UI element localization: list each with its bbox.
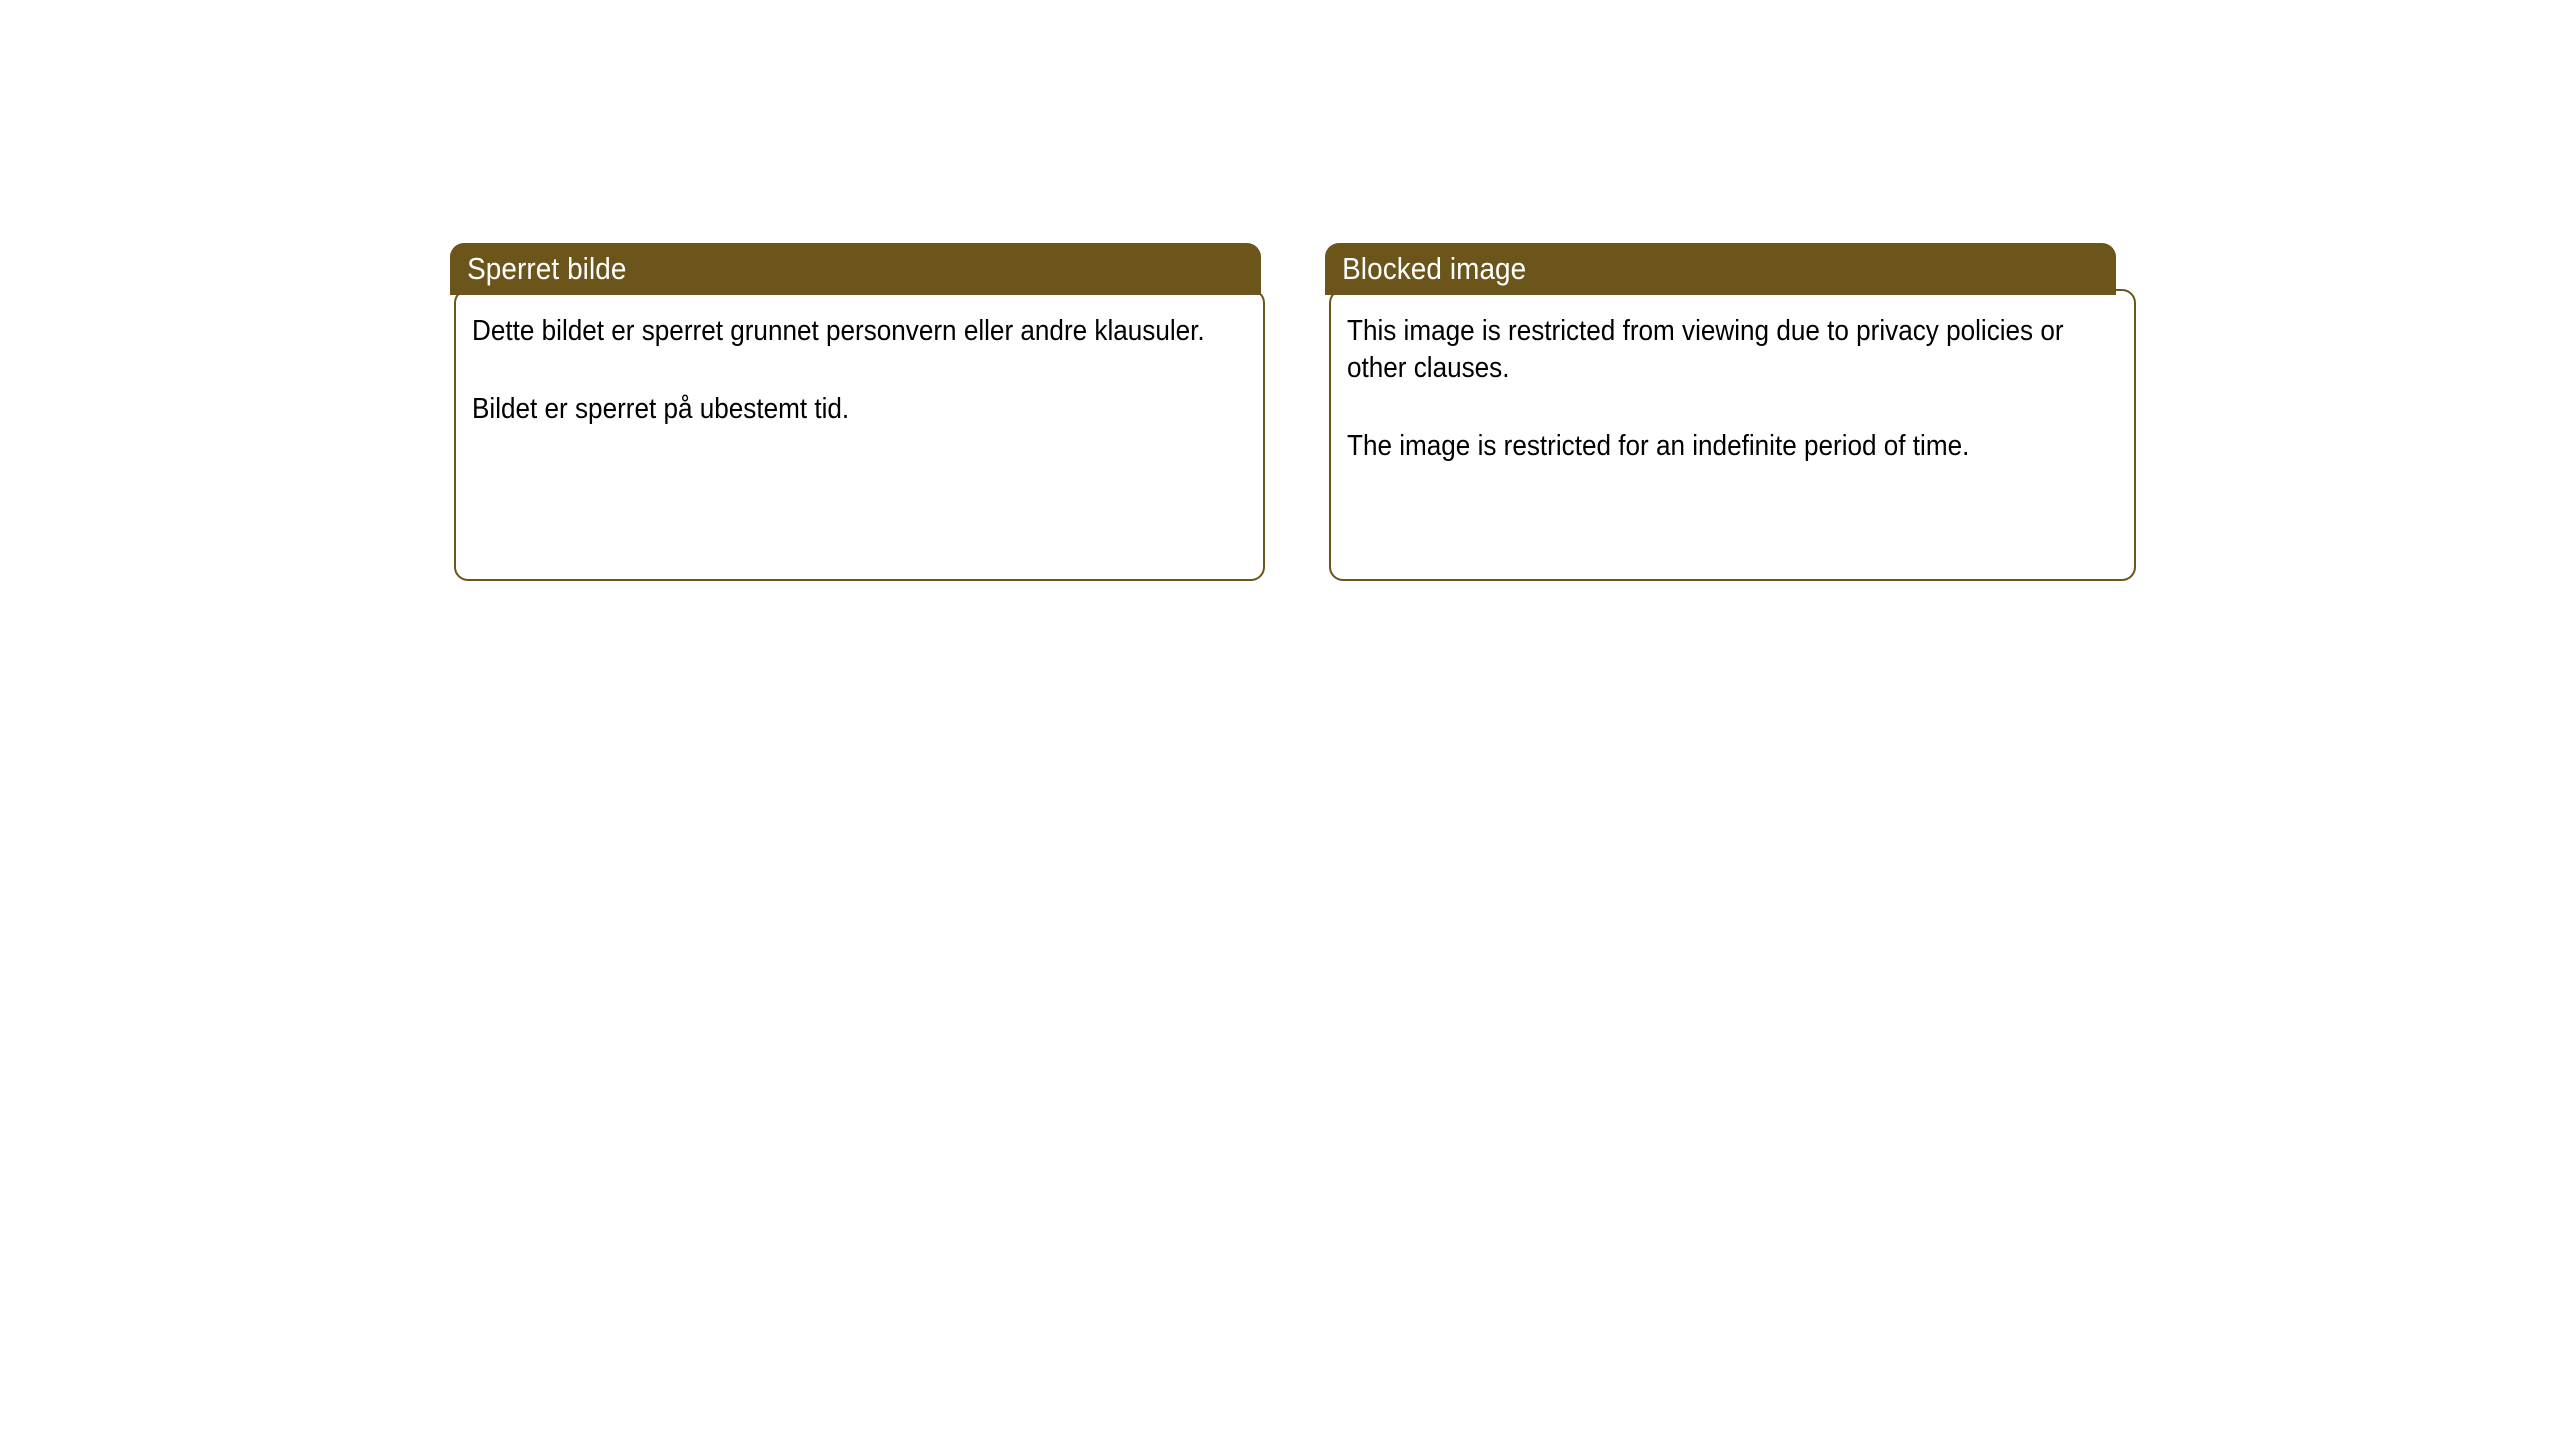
notice-paragraph-privacy-english: This image is restricted from viewing du… [1347,313,2115,387]
card-title-english: Blocked image [1325,252,1526,286]
blocked-image-notice-card-norwegian: Sperret bilde Dette bildet er sperret gr… [450,243,1265,581]
page-root: Sperret bilde Dette bildet er sperret gr… [0,0,2560,1440]
card-content-english: This image is restricted from viewing du… [1329,289,2136,581]
card-content-norwegian: Dette bildet er sperret grunnet personve… [454,289,1265,581]
card-header-english: Blocked image [1325,243,2116,295]
card-header-norwegian: Sperret bilde [450,243,1261,295]
notice-paragraph-privacy-norwegian: Dette bildet er sperret grunnet personve… [472,313,1244,350]
notice-paragraph-duration-english: The image is restricted for an indefinit… [1347,428,2115,465]
card-title-norwegian: Sperret bilde [450,252,626,286]
blocked-image-notice-card-english: Blocked image This image is restricted f… [1325,243,2136,581]
notice-paragraph-duration-norwegian: Bildet er sperret på ubestemt tid. [472,391,1244,428]
